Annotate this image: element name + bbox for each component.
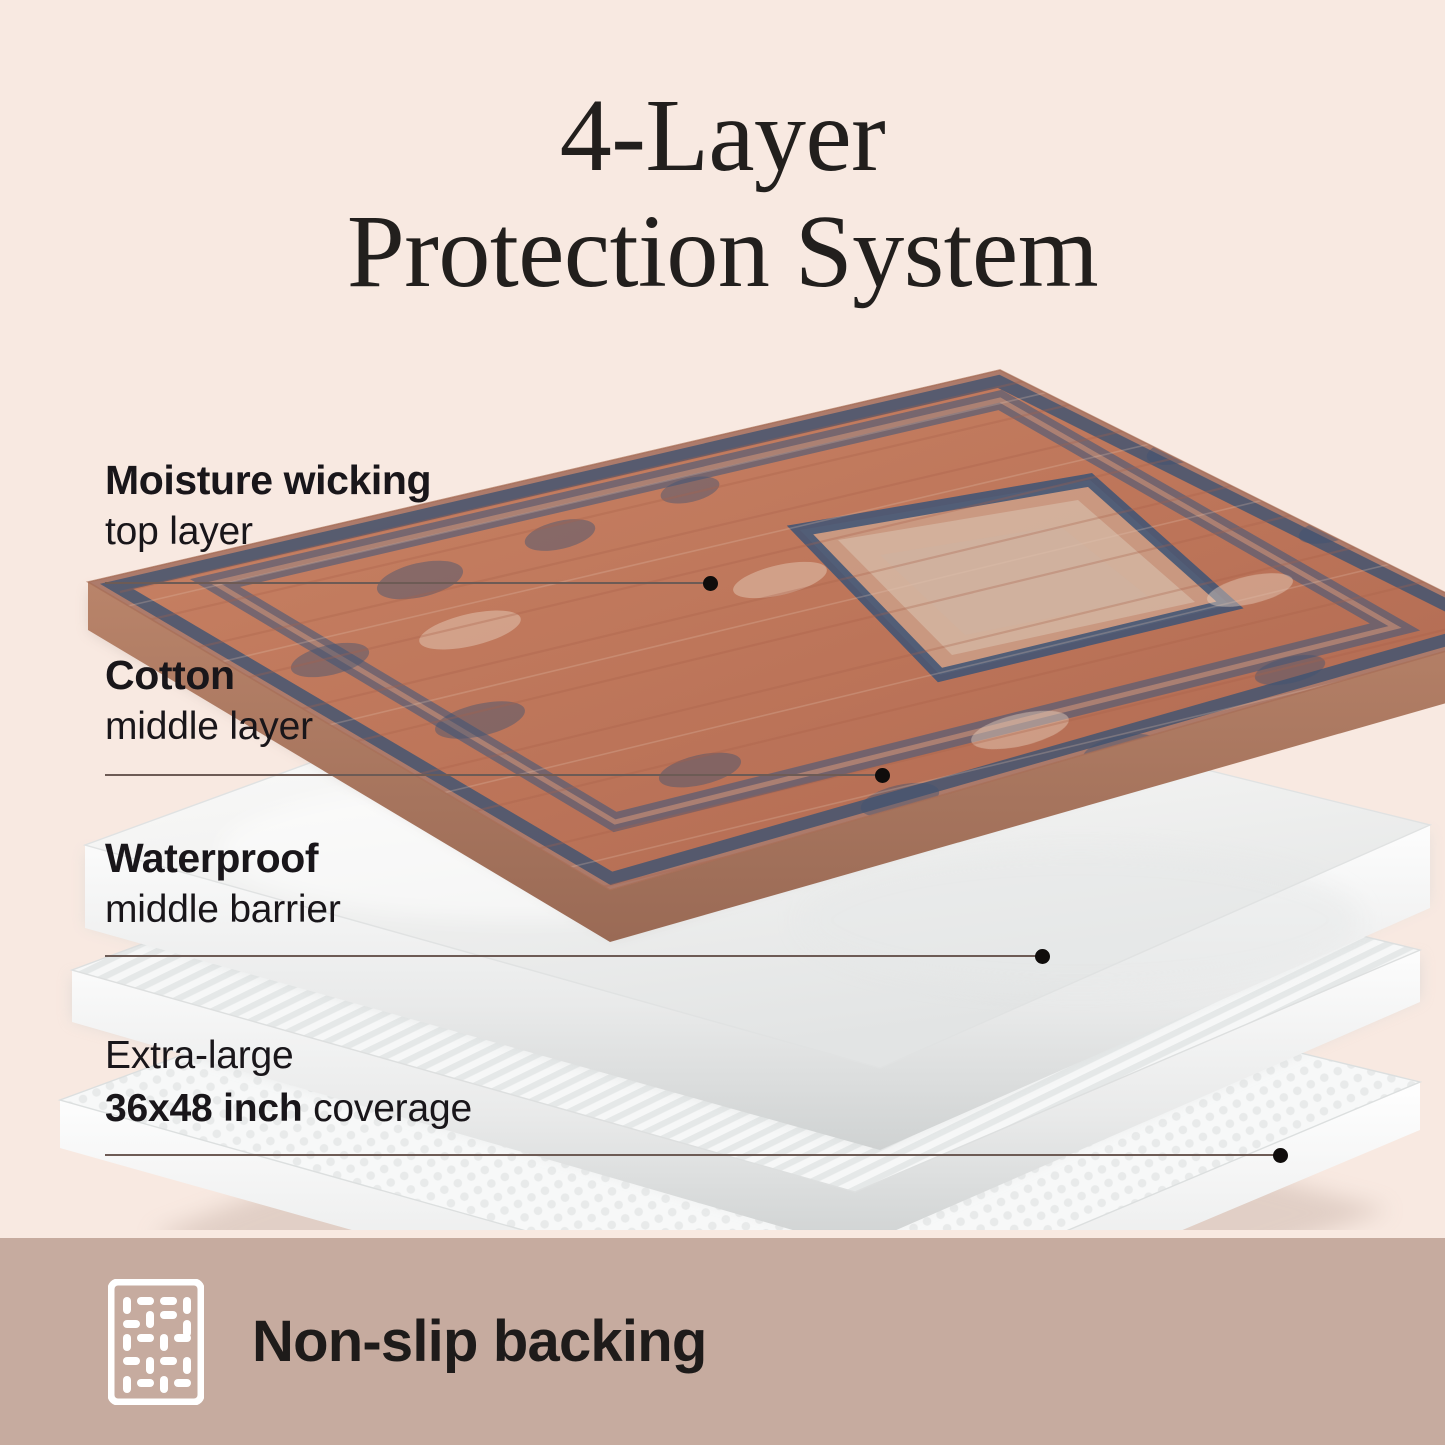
label-heading: Cotton <box>105 653 313 699</box>
label-subtext: middle barrier <box>105 887 341 934</box>
leader-dot-coverage <box>1273 1148 1288 1163</box>
label-subtext: middle layer <box>105 704 313 751</box>
label-moisture-wicking: Moisture wicking top layer <box>105 458 431 556</box>
label-heading: Moisture wicking <box>105 458 431 504</box>
leader-line-waterproof <box>105 955 1042 957</box>
leader-dot-moisture-wicking <box>703 576 718 591</box>
coverage-line-2: 36x48 inch coverage <box>105 1086 472 1133</box>
non-slip-banner: Non-slip backing <box>0 1238 1445 1445</box>
leader-dot-cotton <box>875 768 890 783</box>
label-coverage: Extra-large 36x48 inch coverage <box>105 1033 472 1133</box>
leader-line-moisture-wicking <box>105 582 710 584</box>
coverage-size-suffix: coverage <box>302 1087 471 1130</box>
label-subtext: top layer <box>105 509 431 556</box>
label-cotton: Cotton middle layer <box>105 653 313 751</box>
label-heading: Waterproof <box>105 836 341 882</box>
leader-line-cotton <box>105 774 882 776</box>
coverage-line-1: Extra-large <box>105 1033 472 1080</box>
infographic-canvas: 4-Layer Protection System <box>0 0 1445 1445</box>
non-slip-label: Non-slip backing <box>252 1308 706 1375</box>
leader-dot-waterproof <box>1035 949 1050 964</box>
non-slip-weave-icon <box>108 1279 204 1405</box>
page-title: 4-Layer Protection System <box>0 78 1445 311</box>
coverage-size-value: 36x48 inch <box>105 1087 302 1130</box>
leader-line-coverage <box>105 1154 1280 1156</box>
label-waterproof: Waterproof middle barrier <box>105 836 341 934</box>
